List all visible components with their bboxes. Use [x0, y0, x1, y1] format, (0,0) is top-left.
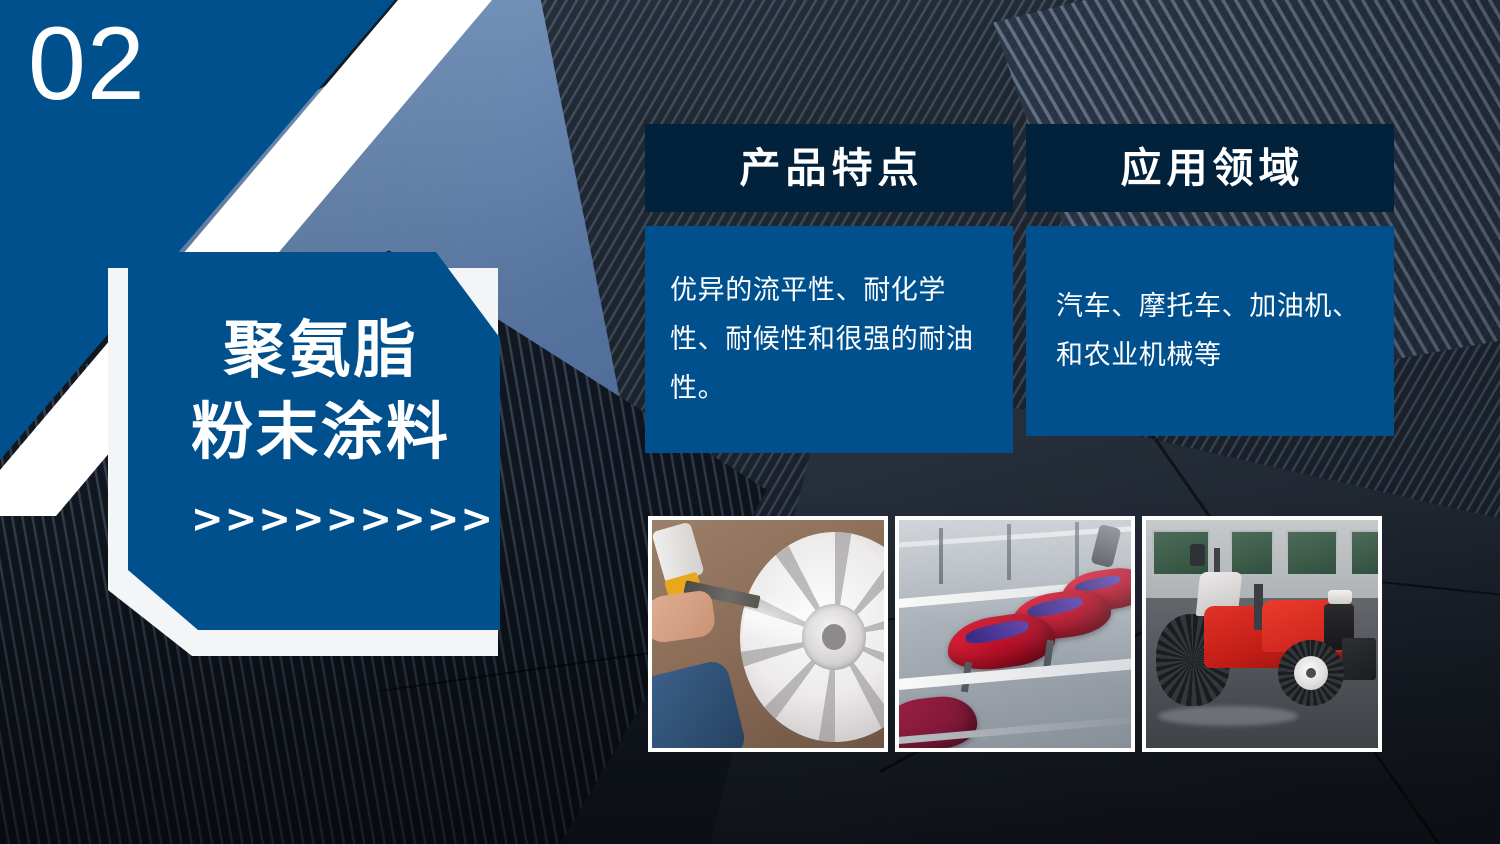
info-cards-row: 产品特点 优异的流平性、耐化学性、耐候性和很强的耐油性。 应用领域 汽车、摩托车…	[645, 124, 1395, 453]
operator-sleeve	[652, 658, 748, 748]
card-body-text: 优异的流平性、耐化学性、耐候性和很强的耐油性。	[670, 266, 987, 413]
photo-strip	[648, 516, 1382, 752]
building-window	[1350, 530, 1378, 576]
title-block: 聚氨脂 粉末涂料 >>>>>>>>>	[128, 252, 500, 630]
card-header-label: 应用领域	[1116, 148, 1305, 189]
chevron-arrows-icon: >>>>>>>>>	[142, 500, 500, 539]
operator-hand	[652, 589, 717, 645]
photo-frame-coating-line	[895, 516, 1135, 752]
card-header-label: 产品特点	[735, 148, 924, 189]
photo-frame-tractor	[1142, 516, 1382, 752]
photo-frame-spray-gun-wheel	[648, 516, 888, 752]
alloy-wheel-center-bore	[822, 624, 846, 650]
coating-booth-haze	[899, 520, 1131, 748]
ground-puddle	[1158, 706, 1298, 726]
card-body-application-fields: 汽车、摩托车、加油机、和农业机械等	[1026, 226, 1394, 436]
slide-number: 02	[28, 12, 146, 116]
title-line-1: 聚氨脂	[142, 310, 500, 392]
tractor-wheel-hub-nut	[1306, 668, 1316, 678]
building-window	[1286, 530, 1338, 576]
tractor-front-hitch	[1342, 638, 1376, 680]
photo-red-agricultural-tractor	[1146, 520, 1378, 748]
photo-motorcycle-fuel-tanks-coating-line	[899, 520, 1131, 748]
card-header-product-features: 产品特点	[645, 124, 1013, 212]
card-product-features: 产品特点 优异的流平性、耐化学性、耐候性和很强的耐油性。	[645, 124, 1013, 453]
building-window	[1230, 530, 1274, 576]
title-block-content: 聚氨脂 粉末涂料 >>>>>>>>>	[128, 252, 500, 630]
tractor-mirror	[1190, 544, 1205, 566]
presentation-slide: 02 聚氨脂 粉末涂料 >>>>>>>>> 产品特点 优异的流平性、耐化学性、耐…	[0, 0, 1500, 844]
card-application-fields: 应用领域 汽车、摩托车、加油机、和农业机械等	[1026, 124, 1394, 453]
card-header-application-fields: 应用领域	[1026, 124, 1394, 212]
card-body-text: 汽车、摩托车、加油机、和农业机械等	[1056, 282, 1368, 380]
title-line-2: 粉末涂料	[142, 392, 500, 474]
card-body-product-features: 优异的流平性、耐化学性、耐候性和很强的耐油性。	[645, 226, 1013, 453]
photo-powder-coating-spray-gun-wheel	[652, 520, 884, 748]
tractor-headlamp	[1328, 590, 1352, 604]
